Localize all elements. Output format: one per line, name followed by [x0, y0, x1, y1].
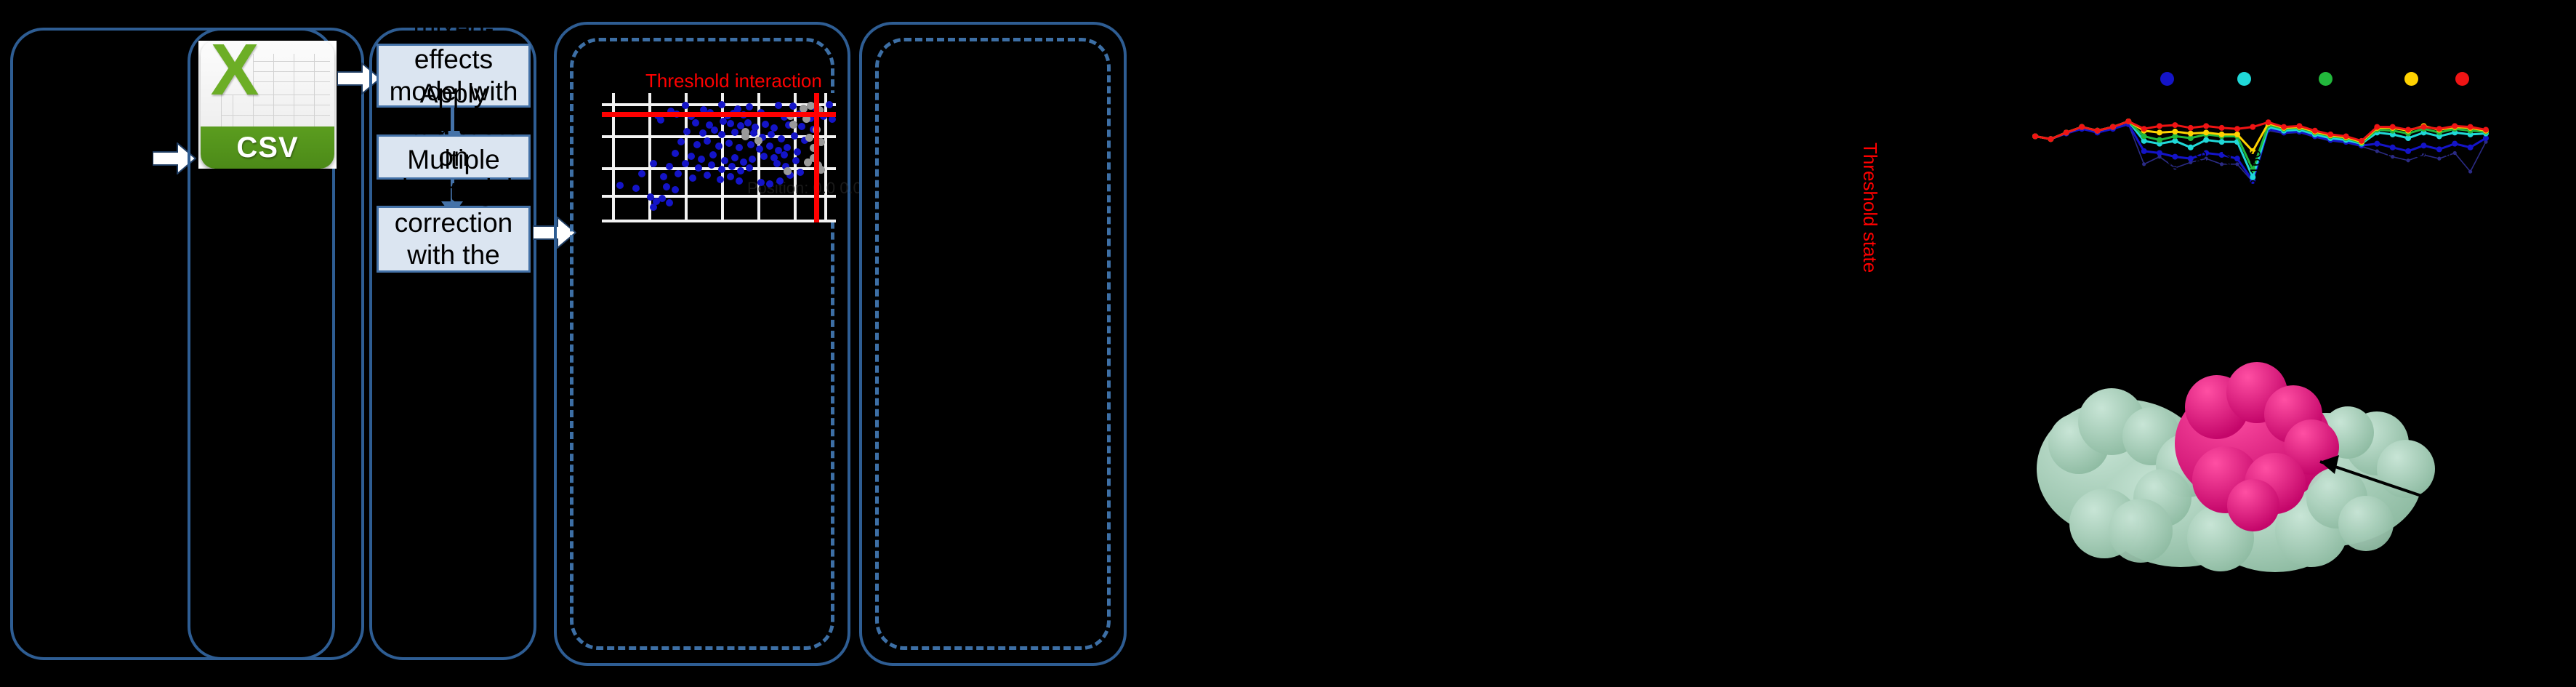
- line-marker: [2141, 148, 2147, 154]
- threshold-state-label: Threshold state: [1859, 142, 1881, 273]
- data-point: [683, 128, 691, 135]
- line-marker: [2405, 126, 2411, 132]
- line-marker: [2234, 126, 2240, 132]
- x-axis-tick: [2188, 190, 2189, 198]
- multiple-testing-text: Multiple testingcorrectionwith the BH pr…: [386, 144, 521, 334]
- x-axis-tick-label: 122-129: [2194, 150, 2210, 204]
- line-marker: [2219, 132, 2225, 137]
- data-point: [666, 163, 673, 170]
- grid-h: [602, 220, 836, 222]
- data-point-grey: [754, 137, 762, 145]
- data-point: [746, 164, 753, 172]
- x-axis-tick: [2380, 190, 2381, 198]
- binding-interface-label: Binding interface: [2442, 550, 2503, 590]
- data-point: [766, 142, 773, 150]
- data-point: [704, 137, 711, 145]
- line-marker: [2064, 129, 2069, 135]
- data-point: [768, 131, 775, 138]
- data-point: [632, 185, 640, 192]
- line-marker: [2452, 123, 2458, 129]
- data-point: [688, 153, 695, 160]
- data-point: [699, 129, 707, 137]
- data-point: [709, 151, 717, 158]
- x-axis-tick-label: 67-75: [2138, 166, 2155, 204]
- line-marker: [2420, 142, 2426, 148]
- data-point: [675, 170, 682, 177]
- data-point: [638, 170, 645, 177]
- line-marker: [2436, 126, 2442, 132]
- legend-dot-red: [2455, 72, 2469, 86]
- data-point: [731, 129, 738, 136]
- line-marker: [2125, 118, 2131, 124]
- data-point: [728, 163, 736, 170]
- line-marker: [2219, 125, 2225, 131]
- data-point: [650, 160, 657, 167]
- line-marker: [2157, 150, 2162, 156]
- line-marker: [2172, 129, 2178, 134]
- csv-icon-container: X CSV: [198, 41, 337, 169]
- y-axis-label: 0.0: [1992, 186, 2018, 209]
- x-axis-tick-label: 28-44: [2084, 166, 2101, 204]
- line-marker: [2141, 133, 2147, 139]
- data-point: [660, 173, 667, 180]
- data-point: [682, 160, 689, 167]
- data-point: [718, 131, 725, 138]
- line-marker: [2157, 137, 2162, 143]
- threshold-interaction-label: Threshold interaction: [645, 70, 822, 92]
- line-marker: [2281, 124, 2287, 130]
- line-marker: [2390, 124, 2396, 130]
- data-point: [666, 199, 673, 206]
- x-axis-tick: [2242, 190, 2244, 198]
- data-point: [711, 126, 718, 134]
- volcano-plot: Position: 0.0 0.0: [602, 93, 836, 222]
- line-marker: [2343, 133, 2349, 139]
- line-marker: [2234, 132, 2240, 137]
- line-marker: [2188, 145, 2194, 150]
- line-marker: [2312, 128, 2318, 134]
- data-point: [736, 177, 743, 185]
- data-point: [747, 141, 754, 148]
- x-axis-tick-label: 241-257: [2386, 150, 2402, 204]
- data-point: [756, 145, 763, 153]
- data-point: [727, 173, 734, 180]
- line-marker: [2374, 124, 2380, 130]
- data-point: [682, 102, 689, 109]
- x-axis-tick: [2297, 190, 2298, 198]
- data-point-grey: [784, 167, 792, 175]
- csv-icon-x-letter: X: [205, 44, 265, 100]
- data-point: [715, 142, 723, 150]
- data-point: [797, 169, 804, 176]
- data-point: [616, 182, 624, 189]
- data-point-grey: [805, 134, 813, 142]
- x-axis-tick: [2037, 190, 2038, 198]
- data-point: [672, 186, 679, 193]
- line-marker: [2157, 129, 2162, 135]
- threshold-interaction-line: [602, 112, 836, 117]
- data-point: [720, 118, 727, 125]
- threshold-state-line: [814, 93, 819, 222]
- legend-dot-green: [2319, 72, 2333, 86]
- data-point: [744, 119, 752, 126]
- data-point: [657, 116, 664, 124]
- csv-icon-band: CSV: [201, 126, 334, 169]
- data-point: [775, 102, 782, 109]
- legend-dot-cyan: [2237, 72, 2251, 86]
- data-point: [781, 151, 788, 158]
- data-point: [798, 123, 805, 130]
- csv-file-icon: X CSV: [201, 41, 334, 169]
- data-point: [736, 144, 743, 151]
- line-marker: [2390, 145, 2396, 150]
- data-point-grey: [804, 158, 812, 166]
- x-axis-tick-label: 184-199: [2303, 150, 2319, 204]
- data-point: [792, 157, 800, 164]
- data-point: [760, 153, 768, 160]
- data-point: [718, 101, 725, 108]
- panel-structure-inner-dashed: [875, 38, 1111, 650]
- line-marker: [2188, 125, 2194, 131]
- line-marker: [2375, 149, 2379, 153]
- data-point: [731, 154, 738, 161]
- line-marker: [2468, 145, 2474, 150]
- data-point: [721, 157, 728, 164]
- data-point-grey: [789, 121, 797, 129]
- data-point: [778, 135, 785, 142]
- data-point: [773, 160, 781, 167]
- x-axis-tick-label: 200-214: [2330, 150, 2347, 204]
- line-marker: [2250, 124, 2255, 130]
- line-marker: [2188, 156, 2194, 161]
- x-axis-tick-label: 277-284: [2440, 150, 2457, 204]
- line-marker: [2296, 123, 2302, 129]
- x-axis-tick: [2325, 190, 2326, 198]
- data-point: [695, 164, 702, 172]
- x-axis-tick: [2352, 190, 2354, 198]
- line-marker: [2266, 119, 2271, 125]
- data-point: [659, 195, 666, 202]
- data-point: [727, 120, 734, 127]
- line-marker: [2203, 129, 2209, 135]
- x-axis-tick: [2133, 190, 2134, 198]
- legend-dot-blue: [2160, 72, 2174, 86]
- line-marker: [2157, 123, 2162, 129]
- line-marker: [2407, 158, 2410, 162]
- data-point: [677, 138, 685, 145]
- x-axis-tick: [2160, 190, 2162, 198]
- data-point: [725, 140, 733, 147]
- line-marker: [2374, 141, 2380, 147]
- data-point: [704, 172, 711, 179]
- line-marker: [2188, 131, 2194, 137]
- x-axis-tick-label: 1-15: [2056, 174, 2073, 204]
- x-axis-tick: [2434, 190, 2436, 198]
- line-marker: [2142, 162, 2146, 166]
- line-marker: [2483, 126, 2489, 132]
- data-point: [693, 141, 701, 148]
- data-point: [663, 183, 670, 190]
- line-marker: [2141, 126, 2147, 132]
- data-point: [784, 144, 791, 151]
- data-point: [826, 101, 833, 108]
- data-point: [672, 150, 679, 157]
- data-point: [718, 166, 725, 173]
- data-point: [766, 180, 773, 188]
- data-point: [762, 121, 769, 128]
- data-point: [791, 132, 798, 140]
- data-point: [789, 103, 797, 110]
- line-marker: [2079, 124, 2085, 130]
- line-marker: [2327, 132, 2333, 137]
- line-marker: [2420, 124, 2426, 130]
- line-marker: [2203, 137, 2209, 143]
- data-point: [749, 156, 756, 163]
- x-axis-tick: [2078, 190, 2080, 198]
- x-axis-tick: [2105, 190, 2106, 198]
- data-point: [737, 167, 744, 174]
- line-marker: [2172, 122, 2178, 128]
- protein-structure-render: [2035, 298, 2442, 582]
- line-marker: [2405, 148, 2411, 154]
- data-point: [692, 119, 699, 126]
- line-marker: [2219, 139, 2225, 145]
- data-point: [746, 103, 753, 111]
- data-point: [776, 177, 784, 185]
- data-point: [698, 156, 705, 163]
- data-point: [794, 148, 801, 156]
- data-point: [650, 204, 657, 211]
- data-point-grey: [741, 132, 749, 140]
- line-marker: [2468, 169, 2472, 173]
- line-marker: [2032, 133, 2038, 139]
- line-marker: [2048, 136, 2053, 142]
- line-marker: [2110, 124, 2116, 130]
- x-axis-tick-label: 258-266: [2412, 150, 2429, 204]
- line-marker: [2452, 141, 2458, 147]
- data-point: [689, 174, 696, 182]
- x-axis-tick-label: 63-73: [2111, 166, 2128, 204]
- line-marker: [2359, 138, 2364, 144]
- line-marker: [2468, 124, 2474, 130]
- x-axis-tick: [2050, 190, 2052, 198]
- x-axis-tick-label: 218-237: [2358, 150, 2375, 204]
- x-axis-tick: [2215, 190, 2216, 198]
- x-axis-tick: [2270, 190, 2271, 198]
- x-axis-tick: [2407, 190, 2408, 198]
- legend-dot-yellow: [2404, 72, 2418, 86]
- data-point: [757, 179, 765, 186]
- x-axis-tick-label: 81-101: [2166, 158, 2183, 204]
- csv-icon-band-label: CSV: [236, 132, 298, 164]
- line-marker: [2095, 128, 2101, 134]
- line-marker: [2203, 123, 2209, 129]
- data-point: [717, 176, 724, 183]
- data-point: [750, 129, 757, 137]
- multiple-testing-box[interactable]: Multiple testingcorrectionwith the BH pr…: [377, 206, 531, 273]
- diagram-canvas: X CSV Fit a linear mixed-effects model w…: [0, 0, 2576, 687]
- data-point: [708, 161, 715, 169]
